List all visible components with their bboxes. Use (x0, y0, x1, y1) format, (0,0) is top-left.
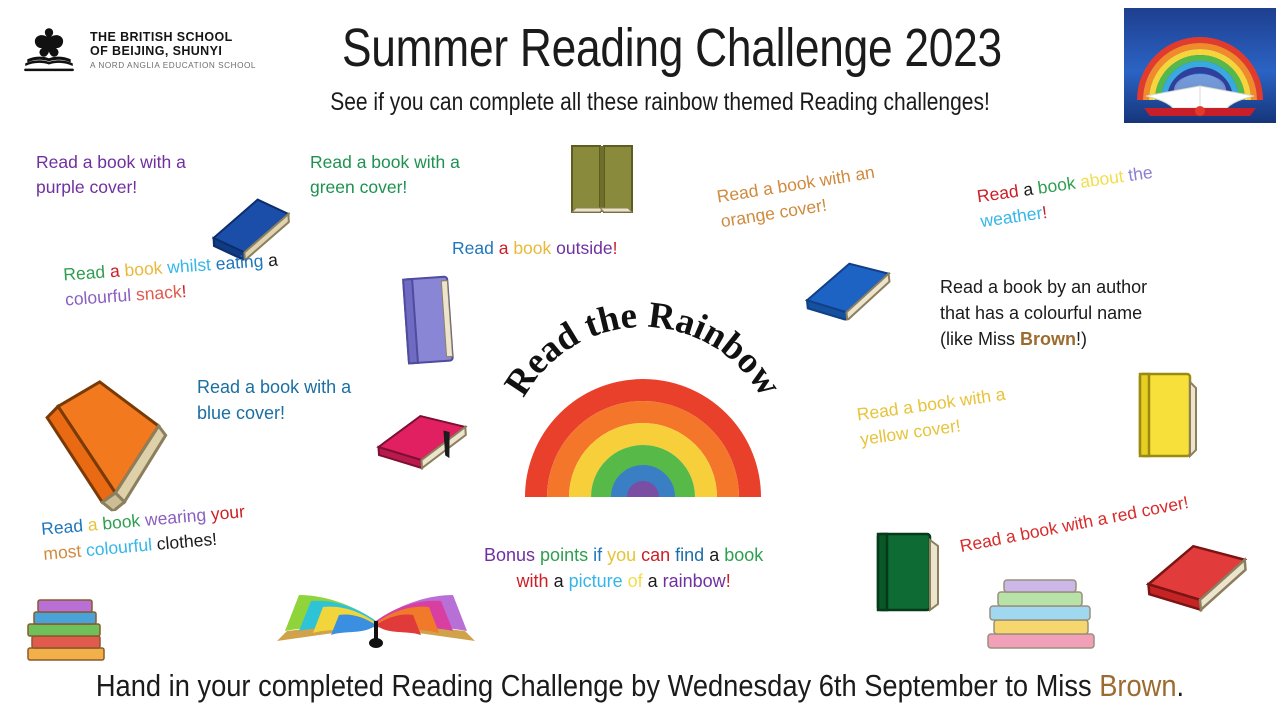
challenge-orange-cover: Read a book with anorange cover! (715, 160, 881, 235)
blue-closed-book-image (797, 253, 899, 325)
logo-line-1: THE BRITISH SCHOOL (90, 30, 256, 44)
crown-open-book-crest-icon (18, 24, 80, 76)
footer-suffix: . (1177, 668, 1185, 703)
challenge-word: a (104, 260, 125, 281)
challenge-word: book (1036, 173, 1076, 198)
challenge-word: with (517, 571, 554, 591)
footer-prefix: Hand in your completed Reading Challenge… (96, 668, 1099, 703)
challenge-word: !) (1076, 329, 1087, 349)
rainbow-open-book-image (265, 555, 487, 660)
challenge-word: book (513, 238, 551, 258)
challenge-colourful-snack: Read a book whilst eating acolourful sna… (62, 248, 280, 314)
challenge-word: whilst (162, 254, 217, 278)
challenge-word: your (210, 501, 246, 524)
challenge-word: book (724, 545, 763, 565)
challenge-word: Read (63, 262, 106, 285)
challenge-line: Read a book with a (36, 150, 186, 175)
challenge-word: can (641, 545, 675, 565)
challenge-word: about (1074, 165, 1130, 192)
challenge-word: a (494, 238, 513, 258)
challenge-word: green cover! (310, 177, 407, 197)
orange-closed-book-image (25, 365, 179, 519)
challenge-word: most (43, 541, 87, 565)
challenge-word: a (648, 571, 663, 591)
challenge-word: Brown (1020, 329, 1076, 349)
challenge-yellow-cover: Read a book with ayellow cover! (855, 382, 1010, 453)
challenge-word: ! (181, 281, 187, 301)
challenge-green-cover: Read a book with agreen cover! (310, 150, 460, 201)
challenge-line: with a picture of a rainbow! (484, 568, 763, 594)
challenge-line: that has a colourful name (940, 300, 1147, 326)
challenge-word: snack (135, 282, 182, 305)
school-logo: THE BRITISH SCHOOL OF BEIJING, SHUNYI A … (18, 24, 256, 76)
challenge-line: Read a book by an author (940, 274, 1147, 300)
challenge-word: colourful (85, 534, 157, 560)
challenge-word: Read a book with a (310, 152, 460, 172)
poster-canvas: THE BRITISH SCHOOL OF BEIJING, SHUNYI A … (0, 0, 1280, 720)
footer-instruction: Hand in your completed Reading Challenge… (77, 668, 1203, 704)
challenge-weather: Read a book about theweather! (975, 160, 1157, 235)
page-title: Summer Reading Challenge 2023 (342, 17, 998, 79)
stacked-books-image (22, 588, 110, 666)
challenge-word: a (82, 514, 103, 536)
challenge-word: picture (569, 571, 628, 591)
challenge-line: purple cover! (36, 175, 186, 200)
challenge-word: (like Miss (940, 329, 1020, 349)
challenge-word: ! (613, 238, 618, 258)
challenge-word: Read a book with a (36, 152, 186, 172)
pink-closed-book-image (370, 405, 474, 474)
challenge-word: a (263, 250, 279, 271)
challenge-word: the (1127, 162, 1154, 185)
challenge-line: blue cover! (197, 400, 351, 426)
challenge-word: find (675, 545, 709, 565)
challenge-outside: Read a book outside! (452, 236, 617, 261)
challenge-word: of (628, 571, 648, 591)
challenge-word: ! (1041, 202, 1049, 222)
school-logo-text: THE BRITISH SCHOOL OF BEIJING, SHUNYI A … (90, 30, 256, 70)
rainbow-over-open-book-image (1124, 8, 1276, 123)
challenge-line: green cover! (310, 175, 460, 200)
challenge-word: clothes! (156, 529, 218, 554)
challenge-purple-cover: Read a book with apurple cover! (36, 150, 186, 201)
purple-closed-book-image (393, 270, 464, 370)
challenge-word: rainbow (663, 571, 726, 591)
challenge-line: Read a book with a (197, 374, 351, 400)
challenge-word: book (101, 510, 141, 533)
challenge-word: Bonus (484, 545, 540, 565)
red-closed-book-image (1137, 531, 1258, 623)
logo-line-2: OF BEIJING, SHUNYI (90, 44, 256, 58)
challenge-line: Bonus points if you can find a book (484, 542, 763, 568)
footer-highlight: Brown (1099, 668, 1176, 703)
challenge-word: eating (215, 251, 264, 274)
challenge-word: that has a colourful name (940, 303, 1142, 323)
challenge-word: colourful (64, 285, 136, 310)
challenge-word: Read a book with a (197, 377, 351, 397)
challenge-word: you (607, 545, 641, 565)
challenge-word: blue cover! (197, 403, 285, 423)
challenge-word: outside (551, 238, 612, 258)
challenge-line: Read a book outside! (452, 236, 617, 261)
challenge-author-colourful-name: Read a book by an authorthat has a colou… (940, 274, 1147, 352)
challenge-line: Read a book with a (310, 150, 460, 175)
challenge-word: a (554, 571, 569, 591)
read-the-rainbow-logo: Read the Rainbow (478, 272, 808, 497)
challenge-word: ! (726, 571, 731, 591)
challenge-bonus-rainbow-picture: Bonus points if you can find a bookwith … (484, 542, 763, 594)
challenge-word: a (709, 545, 724, 565)
challenge-word: Read (976, 181, 1020, 207)
challenge-word: if (593, 545, 607, 565)
challenge-word: purple cover! (36, 177, 137, 197)
challenge-word: points (540, 545, 593, 565)
challenge-line: (like Miss Brown!) (940, 326, 1147, 352)
challenge-word: wearing (139, 504, 211, 530)
challenge-word: weather (979, 203, 1043, 231)
green-closed-book-image (868, 528, 948, 616)
challenge-word: Read (40, 515, 83, 539)
yellow-closed-book-image (1128, 368, 1200, 462)
stacked-pastel-books-image (980, 568, 1102, 654)
challenge-blue-cover: Read a book with ablue cover! (197, 374, 351, 426)
logo-line-3: A NORD ANGLIA EDUCATION SCHOOL (90, 61, 256, 70)
challenge-word: book (124, 258, 163, 281)
olive-open-book-image (566, 140, 638, 218)
page-subtitle: See if you can complete all these rainbo… (257, 88, 1063, 117)
challenge-word: Read a book by an author (940, 277, 1147, 297)
challenge-word: Read (452, 238, 494, 258)
